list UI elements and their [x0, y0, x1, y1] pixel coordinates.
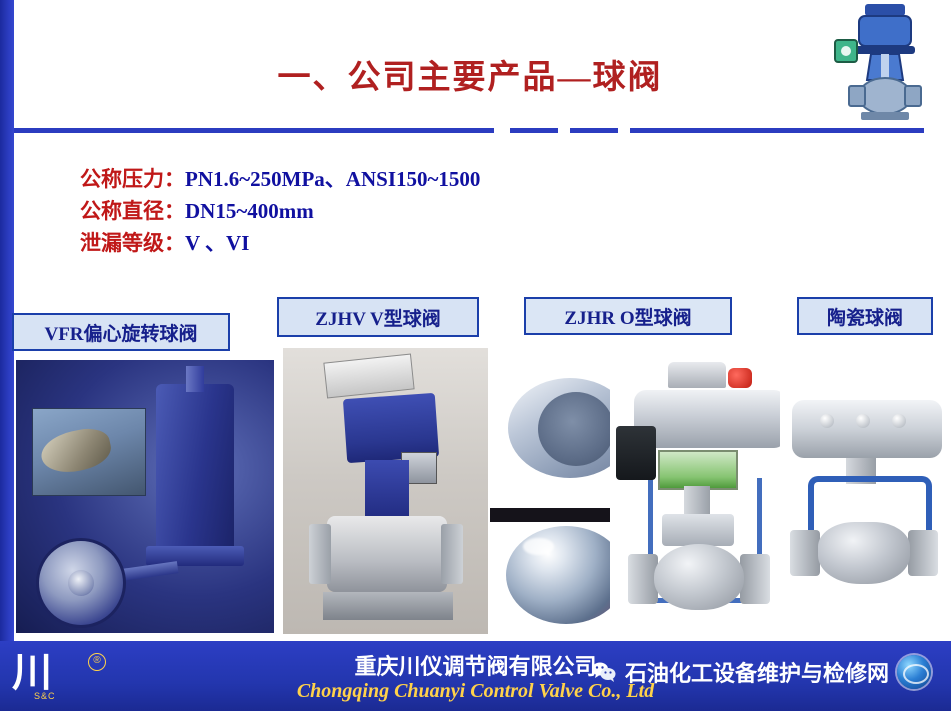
spec-row: 泄漏等级：V 、VI — [80, 227, 480, 259]
site-watermark: 石油化工设备维护与检修网 — [591, 655, 931, 689]
spec-label: 公称压力： — [80, 167, 185, 191]
left-accent-bar — [0, 0, 14, 711]
watermark-text: 石油化工设备维护与检修网 — [625, 656, 889, 688]
spec-label: 公称直径： — [80, 199, 185, 223]
product-label-zjhv: ZJHV V型球阀 — [277, 297, 479, 337]
globe-icon — [897, 655, 931, 689]
control-valve-clipart — [831, 2, 941, 127]
slide: 一、公司主要产品—球阀 公称压力：PN1.6~250M — [0, 0, 951, 711]
product-image-vfr — [16, 360, 274, 633]
product-label-ceramic: 陶瓷球阀 — [797, 297, 933, 335]
spec-value: V 、VI — [185, 231, 249, 255]
spec-list: 公称压力：PN1.6~250MPa、ANSI150~1500 公称直径：DN15… — [80, 163, 480, 259]
spec-value: DN15~400mm — [185, 199, 314, 223]
product-label-zjhr: ZJHR O型球阀 — [524, 297, 732, 335]
wechat-icon — [591, 661, 617, 683]
product-image-zjhv — [283, 348, 488, 634]
spec-label: 泄漏等级： — [80, 231, 185, 255]
spec-row: 公称压力：PN1.6~250MPa、ANSI150~1500 — [80, 163, 480, 195]
page-title: 一、公司主要产品—球阀 — [120, 50, 820, 98]
spec-value: PN1.6~250MPa、ANSI150~1500 — [185, 167, 480, 191]
title-divider — [14, 128, 924, 133]
product-image-zjhr — [610, 358, 795, 636]
product-label-vfr: VFR偏心旋转球阀 — [12, 313, 230, 351]
spec-row: 公称直径：DN15~400mm — [80, 195, 480, 227]
product-image-ceramic — [780, 390, 948, 636]
